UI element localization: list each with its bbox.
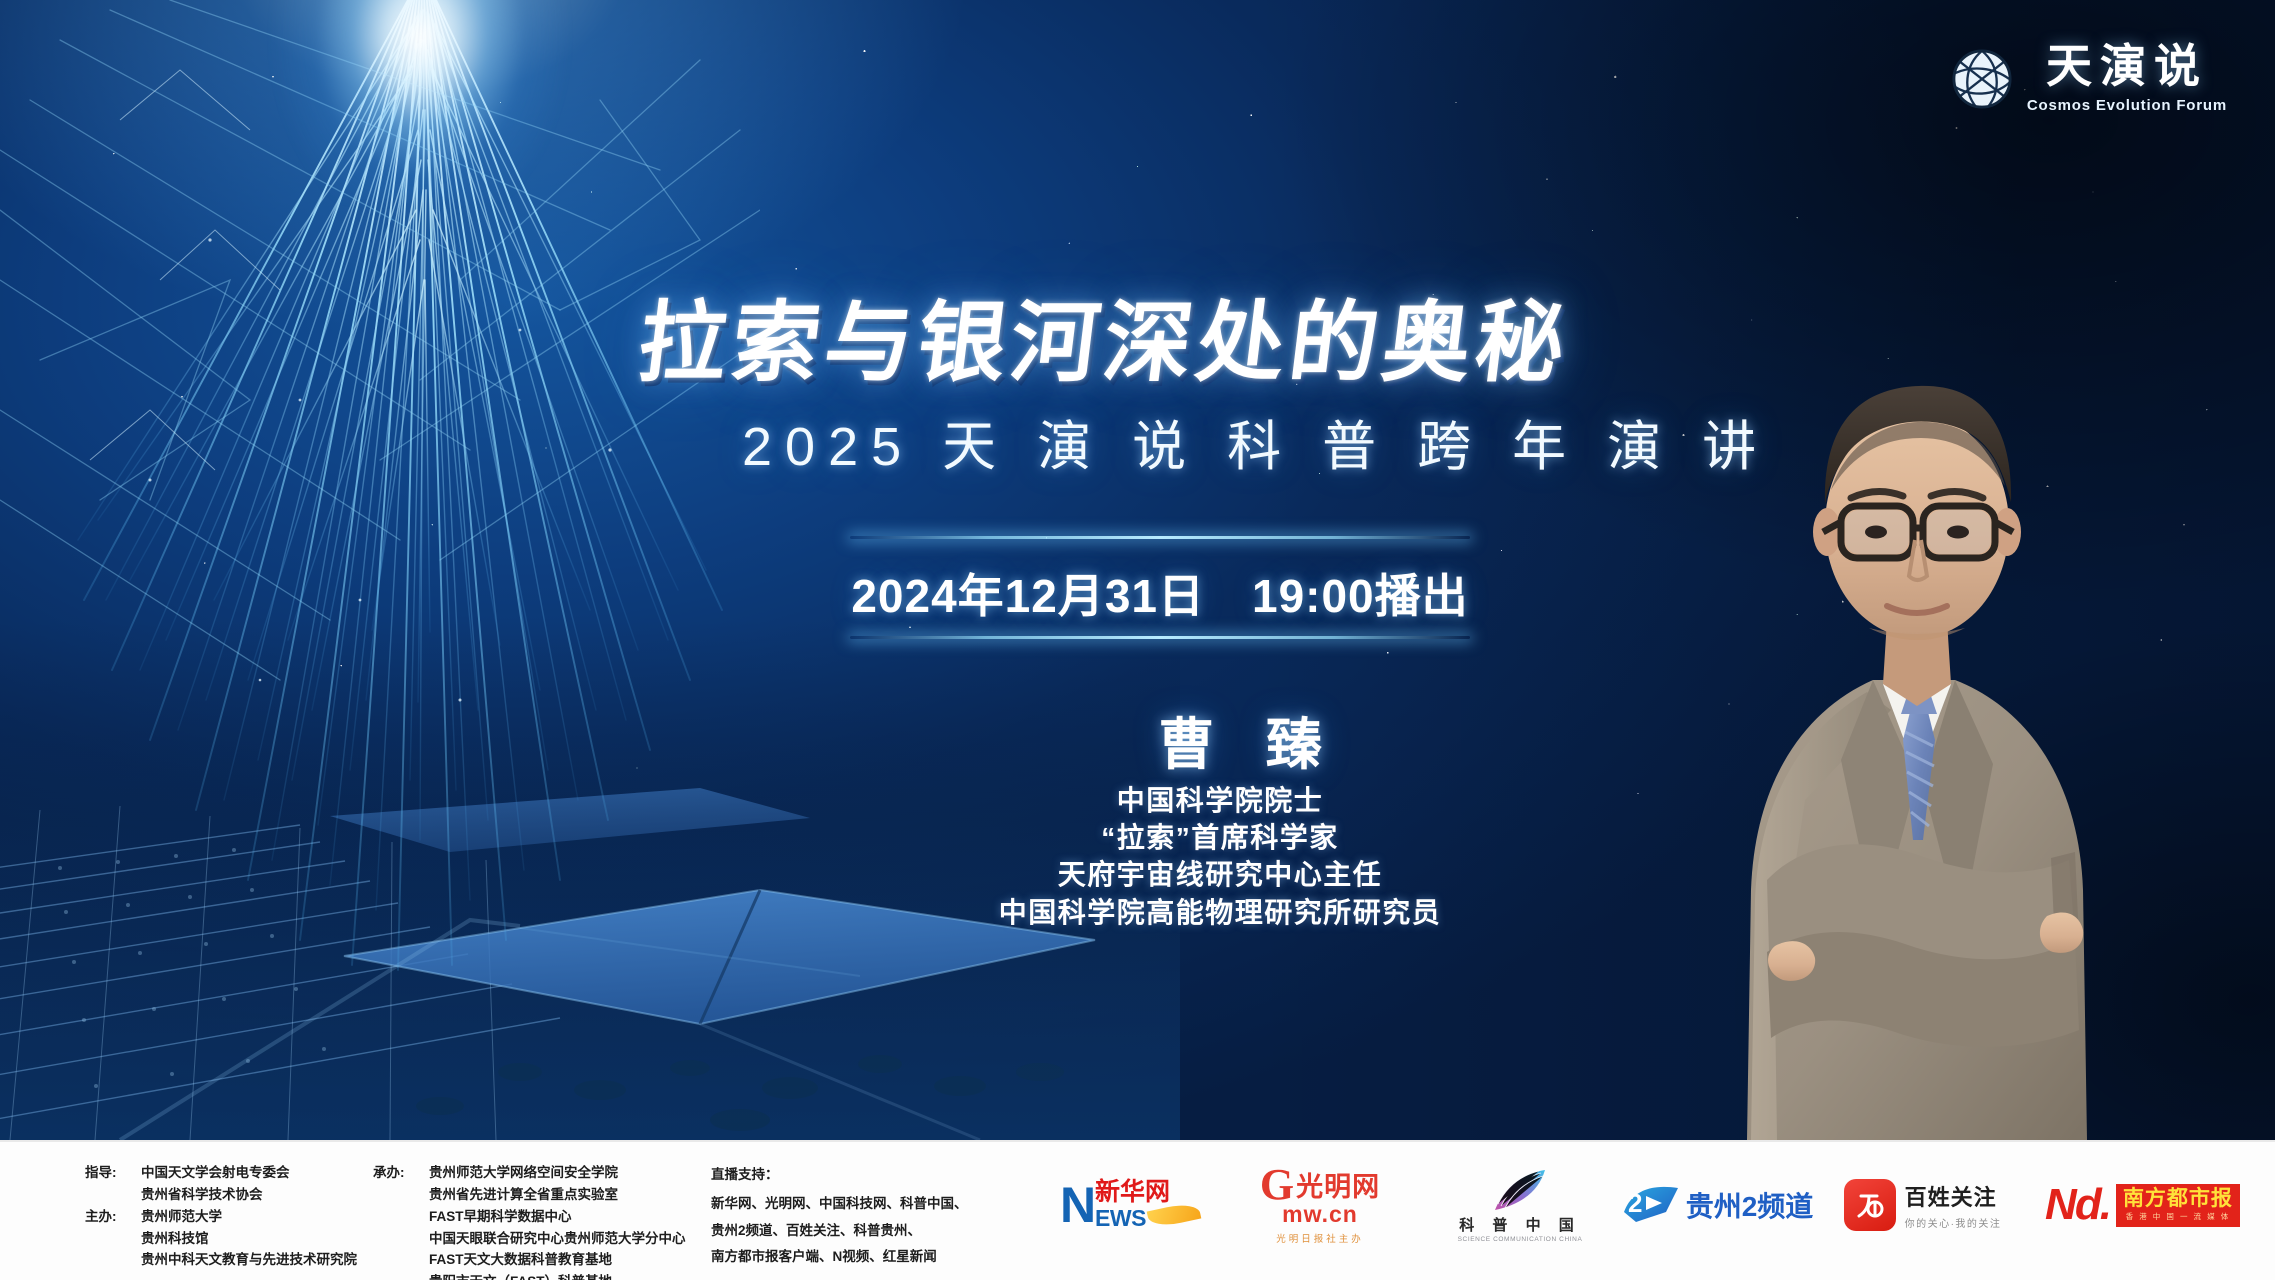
credit-item: 贵州科技馆 <box>141 1228 357 1250</box>
credit-item: FAST天文大数据科普教育基地 <box>429 1249 686 1271</box>
credit-group: 承办: 贵州师范大学网络空间安全学院 贵州省先进计算全省重点实验室 FAST早期… <box>373 1162 711 1280</box>
partner-logo-guizhou2[interactable]: 2 贵州2频道 <box>1615 1168 1820 1242</box>
guizhou2-name-cn: 贵州2频道 <box>1686 1185 1814 1225</box>
nandu-nd-mark: Nd. <box>2045 1180 2110 1230</box>
partner-logo-xinhua[interactable]: N 新华网 EWS <box>1015 1168 1215 1242</box>
credit-group: 主办: 贵州师范大学 贵州科技馆 贵州中科天文教育与先进技术研究院 <box>85 1206 373 1272</box>
kepu-wing-icon <box>1489 1168 1551 1212</box>
credit-item: FAST早期科学数据中心 <box>429 1206 686 1228</box>
globe-sphere-icon <box>1951 48 2013 110</box>
partner-logo-nvideo[interactable]: N视频 <box>2260 1168 2275 1242</box>
baixing-app-icon <box>1844 1179 1896 1231</box>
page-title: 拉索与银河深处的奥秘 <box>632 272 1168 399</box>
broadcast-datetime: 2024年12月31日 19:00播出 <box>850 560 1470 626</box>
nandu-name-cn: 南方都市报 <box>2123 1188 2233 1209</box>
gmw-name-cn: 光明网 <box>1296 1165 1380 1204</box>
credit-group: 指导: 中国天文学会射电专委会 贵州省科学技术协会 <box>85 1162 373 1206</box>
credential-line: “拉索”首席科学家 <box>960 819 1480 856</box>
credits-column-organizers: 指导: 中国天文学会射电专委会 贵州省科学技术协会 主办: 贵州师范大学 贵州科… <box>85 1162 373 1280</box>
credit-label: 主办: <box>85 1206 141 1272</box>
partner-logo-kepu-china[interactable]: 科 普 中 国 SCIENCE COMMUNICATION CHINA <box>1425 1168 1615 1242</box>
divider-below-datetime <box>850 636 1470 639</box>
credits-block: 指导: 中国天文学会射电专委会 贵州省科学技术协会 主办: 贵州师范大学 贵州科… <box>0 1140 1031 1280</box>
credit-values: 贵州师范大学 贵州科技馆 贵州中科天文教育与先进技术研究院 <box>141 1206 357 1272</box>
footer-bar: 指导: 中国天文学会射电专委会 贵州省科学技术协会 主办: 贵州师范大学 贵州科… <box>0 1140 2275 1280</box>
credit-values: 贵州师范大学网络空间安全学院 贵州省先进计算全省重点实验室 FAST早期科学数据… <box>429 1162 686 1280</box>
credit-item: 中国天文学会射电专委会 <box>141 1162 290 1184</box>
broadcast-line: 新华网、光明网、中国科技网、科普中国、 <box>711 1191 1031 1217</box>
baixing-name-cn: 百姓关注 <box>1905 1180 2002 1212</box>
credential-line: 中国科学院院士 <box>960 782 1480 819</box>
hero-content: 拉索与银河深处的奥秘 2025 天 演 说 科 普 跨 年 演 讲 2024年1… <box>0 0 2275 1140</box>
baixing-tagline: 你的关心·我的关注 <box>1905 1215 2002 1230</box>
credit-item: 贵阳市天文（FAST）科普基地 <box>429 1271 686 1280</box>
page-subtitle: 2025 天 演 说 科 普 跨 年 演 讲 <box>742 402 1769 481</box>
credit-item: 贵州师范大学 <box>141 1206 357 1228</box>
speaker-name: 曹 臻 <box>1000 700 1480 781</box>
partner-logo-nandu[interactable]: Nd. 南方都市报 香 港 中 国 一 流 媒 体 <box>2025 1168 2260 1242</box>
partner-logo-baixing[interactable]: 百姓关注 你的关心·我的关注 <box>1820 1168 2025 1242</box>
brand-name-en: Cosmos Evolution Forum <box>2027 97 2227 114</box>
svg-text:2: 2 <box>1628 1188 1642 1218</box>
credit-values: 中国天文学会射电专委会 贵州省科学技术协会 <box>141 1162 290 1206</box>
gmw-domain: mw.cn <box>1282 1201 1358 1228</box>
divider-above-datetime <box>850 536 1470 539</box>
partner-logo-gmw[interactable]: G 光明网 mw.cn 光明日报社主办 <box>1215 1168 1425 1242</box>
credit-item: 贵州省科学技术协会 <box>141 1184 290 1206</box>
gmw-tagline: 光明日报社主办 <box>1276 1231 1364 1245</box>
credit-item: 中国天眼联合研究中心贵州师范大学分中心 <box>429 1228 686 1250</box>
credit-item: 贵州省先进计算全省重点实验室 <box>429 1184 686 1206</box>
credit-label: 承办: <box>373 1162 429 1280</box>
credits-column-broadcast: 直播支持： 新华网、光明网、中国科技网、科普中国、 贵州2频道、百姓关注、科普贵… <box>711 1162 1031 1280</box>
partner-logos: N 新华网 EWS G 光明网 mw.cn 光明日报社主办 <box>1015 1168 2275 1242</box>
guizhou2-play-icon: 2 <box>1622 1182 1682 1228</box>
footer-top-border <box>0 1140 2275 1142</box>
xinhua-name-cn: 新华网 <box>1095 1180 1170 1205</box>
speaker-credentials: 中国科学院院士 “拉索”首席科学家 天府宇宙线研究中心主任 中国科学院高能物理研… <box>960 782 1480 931</box>
broadcast-line: 南方都市报客户端、N视频、红星新闻 <box>711 1244 1031 1270</box>
poster-root: 天演说 Cosmos Evolution Forum 拉索与银河深处的奥秘 20… <box>0 0 2275 1280</box>
brand-logo[interactable]: 天演说 Cosmos Evolution Forum <box>1951 44 2227 114</box>
credential-line: 天府宇宙线研究中心主任 <box>960 856 1480 893</box>
broadcast-line: 贵州2频道、百姓关注、科普贵州、 <box>711 1218 1031 1244</box>
broadcast-support-label: 直播支持： <box>711 1162 1031 1188</box>
credit-item: 贵州师范大学网络空间安全学院 <box>429 1162 686 1184</box>
credits-column-hosts: 承办: 贵州师范大学网络空间安全学院 贵州省先进计算全省重点实验室 FAST早期… <box>373 1162 711 1280</box>
kepu-name-cn: 科 普 中 国 <box>1459 1214 1581 1235</box>
gmw-g-mark: G <box>1260 1165 1294 1205</box>
credit-label: 指导: <box>85 1162 141 1206</box>
nandu-tagline: 香 港 中 国 一 流 媒 体 <box>2126 1211 2231 1222</box>
kepu-name-en: SCIENCE COMMUNICATION CHINA <box>1458 1236 1583 1243</box>
brand-name-cn: 天演说 <box>2046 44 2208 90</box>
credit-item: 贵州中科天文教育与先进技术研究院 <box>141 1249 357 1271</box>
credential-line: 中国科学院高能物理研究所研究员 <box>960 894 1480 931</box>
nandu-name-box: 南方都市报 香 港 中 国 一 流 媒 体 <box>2116 1184 2240 1227</box>
xinhua-n-mark: N <box>1060 1184 1094 1227</box>
